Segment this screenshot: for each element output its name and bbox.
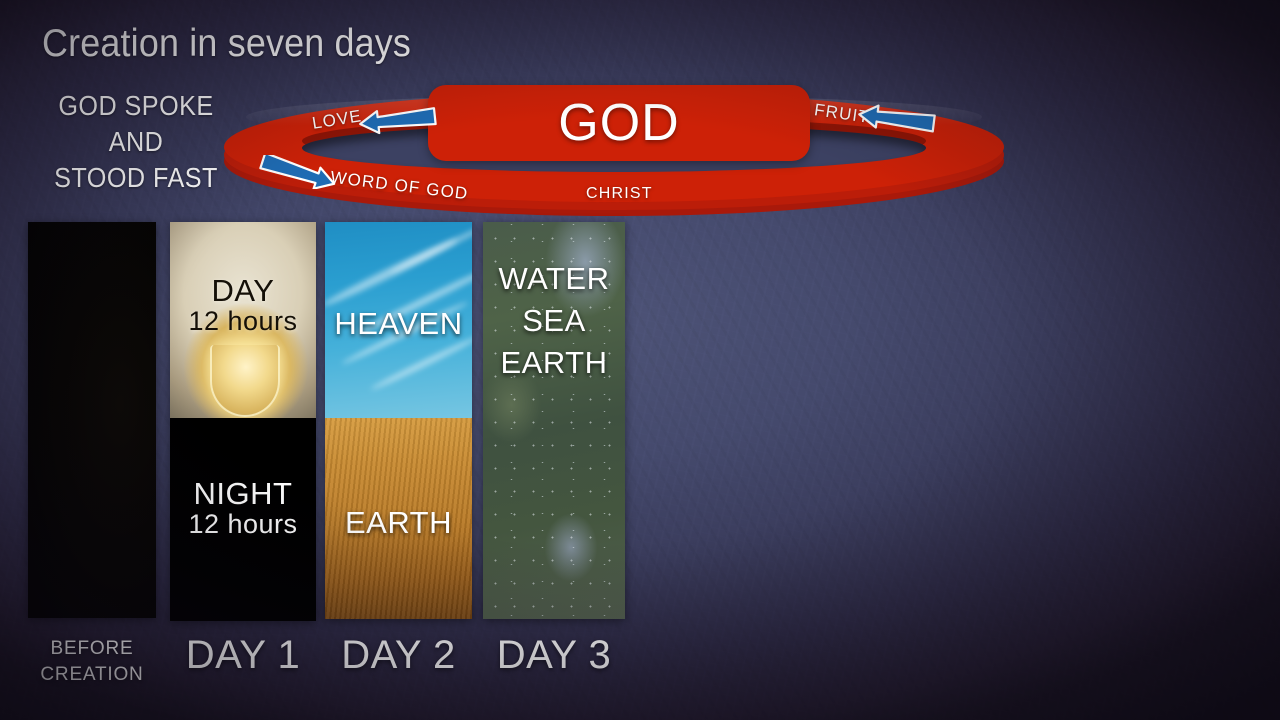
slide-canvas: Creation in seven days GOD SPOKE AND STO… <box>0 0 1280 720</box>
subtitle-line-2: AND <box>46 124 226 160</box>
day-1-bottom-sub: 12 hours <box>170 510 316 539</box>
label-before-creation-line-2: CREATION <box>28 662 156 688</box>
day-1-bottom-label: NIGHT <box>194 476 293 511</box>
panel-day-3: WATER SEA EARTH <box>483 222 625 619</box>
god-label-text: GOD <box>558 93 679 153</box>
day-3-caption-sea: SEA <box>483 304 625 337</box>
day-1-top-caption: DAY 12 hours <box>170 274 316 337</box>
day-1-top-label: DAY <box>212 273 275 308</box>
day-3-caption-earth: EARTH <box>483 346 625 379</box>
panel-day-1: DAY 12 hours NIGHT 12 hours <box>170 222 316 621</box>
ring-label-christ: CHRIST <box>586 185 653 203</box>
label-before-creation-line-1: BEFORE <box>28 636 156 662</box>
day-2-bottom-caption: EARTH <box>325 506 472 539</box>
label-day-2: DAY 2 <box>325 635 472 675</box>
subtitle-block: GOD SPOKE AND STOOD FAST <box>46 88 226 195</box>
love-arrow-icon <box>358 103 438 137</box>
filament-icon <box>210 345 280 417</box>
day-2-top-caption: HEAVEN <box>325 307 472 340</box>
god-label-box: GOD <box>428 85 810 161</box>
label-before-creation: BEFORE CREATION <box>28 636 156 687</box>
day-3-caption-water: WATER <box>483 262 625 295</box>
label-day-3: DAY 3 <box>483 635 625 675</box>
fruit-arrow-icon <box>857 102 937 136</box>
panel-day-2: HEAVEN EARTH <box>325 222 472 619</box>
label-day-1: DAY 1 <box>170 635 316 675</box>
subtitle-line-1: GOD SPOKE <box>46 88 226 124</box>
day-1-top-sub: 12 hours <box>170 307 316 336</box>
panel-before-creation <box>28 222 156 618</box>
day-1-bottom-caption: NIGHT 12 hours <box>170 477 316 540</box>
page-title: Creation in seven days <box>42 24 411 63</box>
word-of-god-arrow-icon <box>258 155 338 189</box>
subtitle-line-3: STOOD FAST <box>46 160 226 196</box>
